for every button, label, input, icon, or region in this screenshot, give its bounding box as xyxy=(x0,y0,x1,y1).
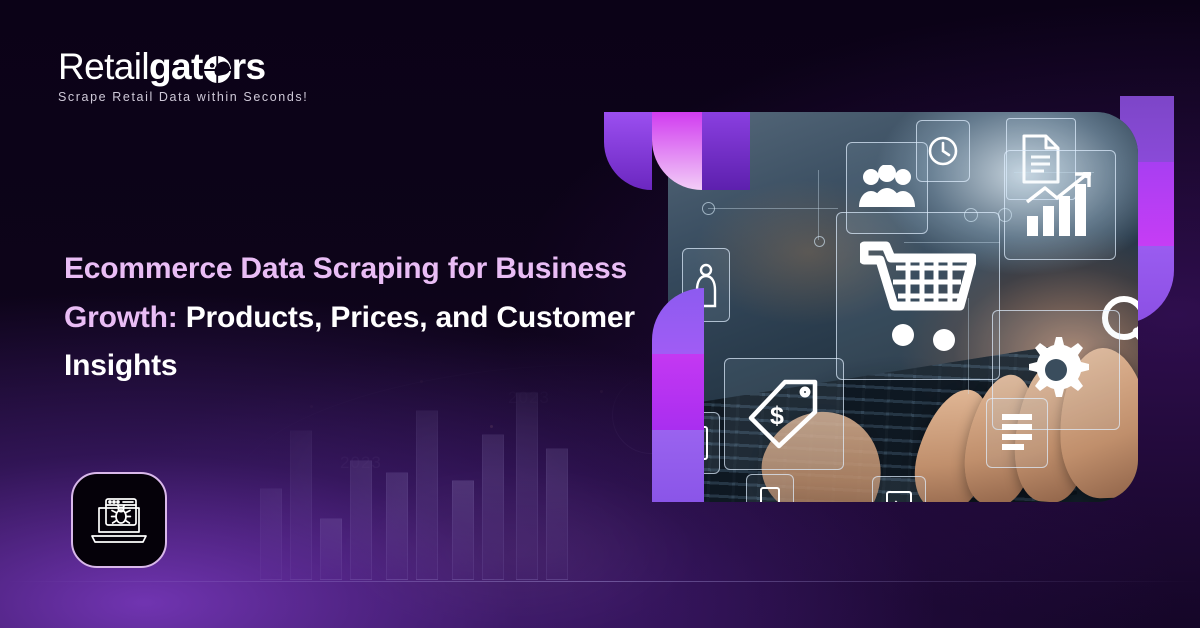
image-file-glyph xyxy=(884,489,914,502)
users-glyph xyxy=(858,165,916,211)
lock-device-icon xyxy=(746,474,794,502)
svg-text:$: $ xyxy=(770,402,784,430)
price-tag-glyph: $ xyxy=(747,378,821,450)
background-dot xyxy=(310,405,313,408)
brand-logo[interactable]: Retail gat rs Scrape Retail Data within … xyxy=(58,48,298,104)
brand-tagline: Scrape Retail Data within Seconds! xyxy=(58,90,298,104)
stack-block-magenta xyxy=(652,354,704,430)
shopping-cart-glyph xyxy=(860,240,976,352)
laptop-bug-glyph xyxy=(88,494,150,546)
brand-name-light: Retail xyxy=(58,48,149,86)
image-file-icon xyxy=(872,476,926,502)
laptop-bug-scraper-icon xyxy=(71,472,167,568)
gear-glyph xyxy=(1019,333,1093,407)
square-block-violet xyxy=(702,112,750,190)
shopping-cart-icon xyxy=(836,212,1000,380)
globe-gator-icon xyxy=(204,56,231,83)
background-dot xyxy=(490,425,493,428)
promo-banner: 2023 2023 Retail gat rs Scrape Retail Da… xyxy=(0,0,1200,628)
brand-name-bold-b: rs xyxy=(232,48,266,86)
page-title: Ecommerce Data Scraping for Business Gro… xyxy=(64,245,664,391)
background-bar xyxy=(386,472,408,580)
list-document-icon xyxy=(986,398,1048,468)
list-document-glyph xyxy=(998,410,1036,456)
connector-node xyxy=(814,236,825,247)
brand-name-bold-a: gat xyxy=(149,48,203,86)
price-tag-dollar-icon: $ xyxy=(724,358,844,470)
background-bar xyxy=(452,480,474,580)
background-year-label: 2023 xyxy=(508,388,550,408)
stack-block-violet xyxy=(652,430,704,502)
background-bar xyxy=(260,488,282,580)
brand-name: Retail gat rs xyxy=(58,48,298,86)
background-horizon-line xyxy=(0,581,1200,582)
connector-line xyxy=(818,170,819,240)
lock-glyph xyxy=(757,486,783,502)
background-bar xyxy=(320,518,342,580)
bar-chart-growth-icon xyxy=(1004,150,1116,260)
background-year-label: 2023 xyxy=(340,453,382,473)
bar-chart-glyph xyxy=(1023,172,1097,238)
clock-glyph xyxy=(926,134,960,168)
clock-icon xyxy=(916,120,970,182)
connector-node xyxy=(702,202,715,215)
